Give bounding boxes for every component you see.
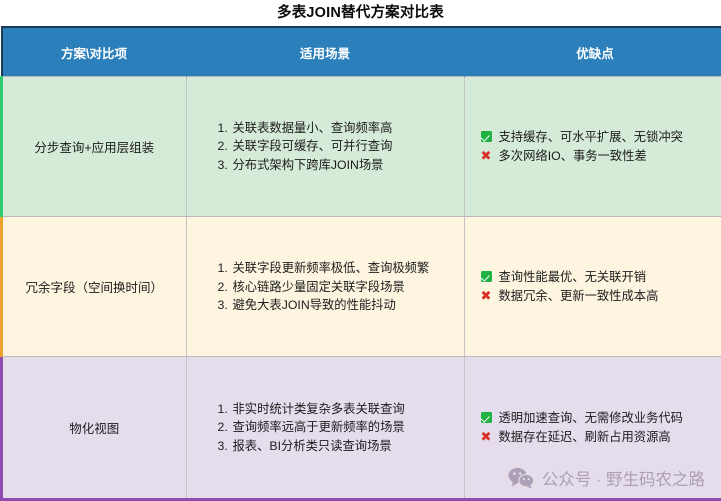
list-item: 3.分布式架构下跨库JOIN场景 <box>218 156 464 175</box>
list-text: 分布式架构下跨库JOIN场景 <box>233 158 384 172</box>
pros-cons-list: 支持缓存、可水平扩展、无锁冲突 ✖ 多次网络IO、事务一致性差 <box>479 128 721 165</box>
list-text: 报表、BI分析类只读查询场景 <box>233 439 392 453</box>
pros-text: 支持缓存、可水平扩展、无锁冲突 <box>499 128 683 147</box>
cons-line: ✖ 数据冗余、更新一致性成本高 <box>479 287 721 306</box>
pros-line: 透明加速查询、无需修改业务代码 <box>479 409 721 428</box>
scenario-list: 1.关联表数据量小、查询频率高 2.关联字段可缓存、可并行查询 3.分布式架构下… <box>218 119 464 175</box>
pros-text: 查询性能最优、无关联开销 <box>499 268 647 287</box>
cross-icon: ✖ <box>479 428 494 447</box>
list-item: 1.关联表数据量小、查询频率高 <box>218 119 464 138</box>
table-header-row: 方案\对比项 适用场景 优缺点 <box>2 27 721 77</box>
check-icon <box>479 268 494 287</box>
row-pros-cons: 支持缓存、可水平扩展、无锁冲突 ✖ 多次网络IO、事务一致性差 <box>464 77 721 217</box>
list-number: 2. <box>218 137 233 156</box>
comparison-table: 方案\对比项 适用场景 优缺点 分步查询+应用层组装 1.关联表数据量小、查询频… <box>0 26 721 501</box>
row-scenarios: 1.非实时统计类复杂多表关联查询 2.查询频率远高于更新频率的场景 3.报表、B… <box>186 357 464 500</box>
cross-icon: ✖ <box>479 287 494 306</box>
list-item: 2.核心链路少量固定关联字段场景 <box>218 278 464 297</box>
check-icon <box>479 409 494 428</box>
cons-line: ✖ 数据存在延迟、刷新占用资源高 <box>479 428 721 447</box>
list-number: 1. <box>218 400 233 419</box>
list-number: 1. <box>218 259 233 278</box>
row-pros-cons: 透明加速查询、无需修改业务代码 ✖ 数据存在延迟、刷新占用资源高 <box>464 357 721 500</box>
row-scenarios: 1.关联字段更新频率极低、查询极频繁 2.核心链路少量固定关联字段场景 3.避免… <box>186 217 464 357</box>
column-header-scenario: 适用场景 <box>186 27 464 77</box>
column-header-pros-cons: 优缺点 <box>464 27 721 77</box>
pros-text: 透明加速查询、无需修改业务代码 <box>499 409 683 428</box>
cons-text: 数据存在延迟、刷新占用资源高 <box>499 428 671 447</box>
list-text: 关联字段更新频率极低、查询极频繁 <box>233 261 430 275</box>
cons-line: ✖ 多次网络IO、事务一致性差 <box>479 147 721 166</box>
table-row: 冗余字段（空间换时间） 1.关联字段更新频率极低、查询极频繁 2.核心链路少量固… <box>2 217 721 357</box>
list-text: 非实时统计类复杂多表关联查询 <box>233 402 405 416</box>
list-text: 避免大表JOIN导致的性能抖动 <box>233 298 396 312</box>
list-item: 1.关联字段更新频率极低、查询极频繁 <box>218 259 464 278</box>
list-text: 关联字段可缓存、可并行查询 <box>233 139 393 153</box>
table-row: 分步查询+应用层组装 1.关联表数据量小、查询频率高 2.关联字段可缓存、可并行… <box>2 77 721 217</box>
row-plan-name: 冗余字段（空间换时间） <box>2 217 187 357</box>
pros-line: 查询性能最优、无关联开销 <box>479 268 721 287</box>
row-plan-name: 分步查询+应用层组装 <box>2 77 187 217</box>
pros-cons-list: 查询性能最优、无关联开销 ✖ 数据冗余、更新一致性成本高 <box>479 268 721 305</box>
list-number: 2. <box>218 418 233 437</box>
cross-icon: ✖ <box>479 147 494 166</box>
check-icon <box>479 128 494 147</box>
list-item: 2.查询频率远高于更新频率的场景 <box>218 418 464 437</box>
cons-text: 多次网络IO、事务一致性差 <box>499 147 647 166</box>
row-plan-name: 物化视图 <box>2 357 187 500</box>
list-text: 查询频率远高于更新频率的场景 <box>233 420 405 434</box>
cons-text: 数据冗余、更新一致性成本高 <box>499 287 659 306</box>
scenario-list: 1.关联字段更新频率极低、查询极频繁 2.核心链路少量固定关联字段场景 3.避免… <box>218 259 464 315</box>
page-title: 多表JOIN替代方案对比表 <box>0 0 721 26</box>
row-pros-cons: 查询性能最优、无关联开销 ✖ 数据冗余、更新一致性成本高 <box>464 217 721 357</box>
pros-line: 支持缓存、可水平扩展、无锁冲突 <box>479 128 721 147</box>
list-text: 关联表数据量小、查询频率高 <box>233 121 393 135</box>
list-text: 核心链路少量固定关联字段场景 <box>233 280 405 294</box>
list-number: 3. <box>218 296 233 315</box>
list-number: 3. <box>218 156 233 175</box>
column-header-plan: 方案\对比项 <box>2 27 187 77</box>
list-number: 1. <box>218 119 233 138</box>
comparison-table-container: 方案\对比项 适用场景 优缺点 分步查询+应用层组装 1.关联表数据量小、查询频… <box>0 26 721 501</box>
list-number: 3. <box>218 437 233 456</box>
list-item: 2.关联字段可缓存、可并行查询 <box>218 137 464 156</box>
list-item: 3.避免大表JOIN导致的性能抖动 <box>218 296 464 315</box>
list-number: 2. <box>218 278 233 297</box>
scenario-list: 1.非实时统计类复杂多表关联查询 2.查询频率远高于更新频率的场景 3.报表、B… <box>218 400 464 456</box>
list-item: 1.非实时统计类复杂多表关联查询 <box>218 400 464 419</box>
pros-cons-list: 透明加速查询、无需修改业务代码 ✖ 数据存在延迟、刷新占用资源高 <box>479 409 721 446</box>
list-item: 3.报表、BI分析类只读查询场景 <box>218 437 464 456</box>
table-row: 物化视图 1.非实时统计类复杂多表关联查询 2.查询频率远高于更新频率的场景 3… <box>2 357 721 500</box>
row-scenarios: 1.关联表数据量小、查询频率高 2.关联字段可缓存、可并行查询 3.分布式架构下… <box>186 77 464 217</box>
